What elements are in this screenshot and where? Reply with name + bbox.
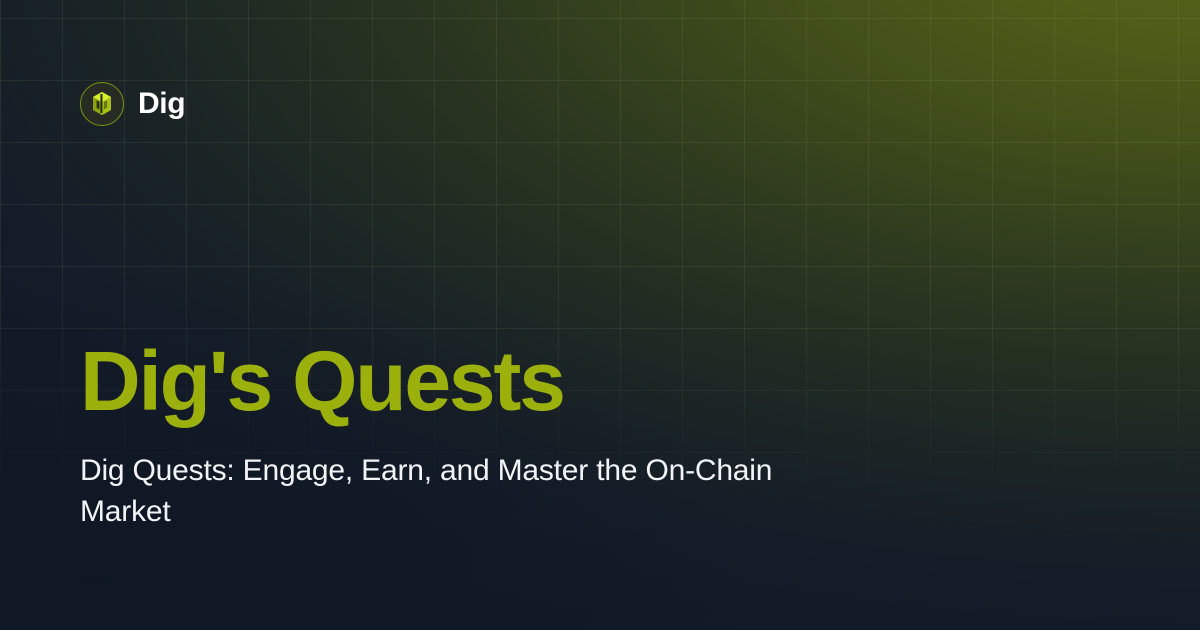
dig-coin-cube-icon <box>91 91 113 117</box>
brand-lockup: Dig <box>80 82 185 126</box>
page-title: Dig's Quests <box>80 338 840 425</box>
og-banner-card: Dig Dig's Quests Dig Quests: Engage, Ear… <box>0 0 1200 630</box>
brand-logo-badge <box>80 82 124 126</box>
brand-name: Dig <box>138 89 185 119</box>
hero-content: Dig's Quests Dig Quests: Engage, Earn, a… <box>80 338 840 533</box>
page-subtitle: Dig Quests: Engage, Earn, and Master the… <box>80 451 810 533</box>
